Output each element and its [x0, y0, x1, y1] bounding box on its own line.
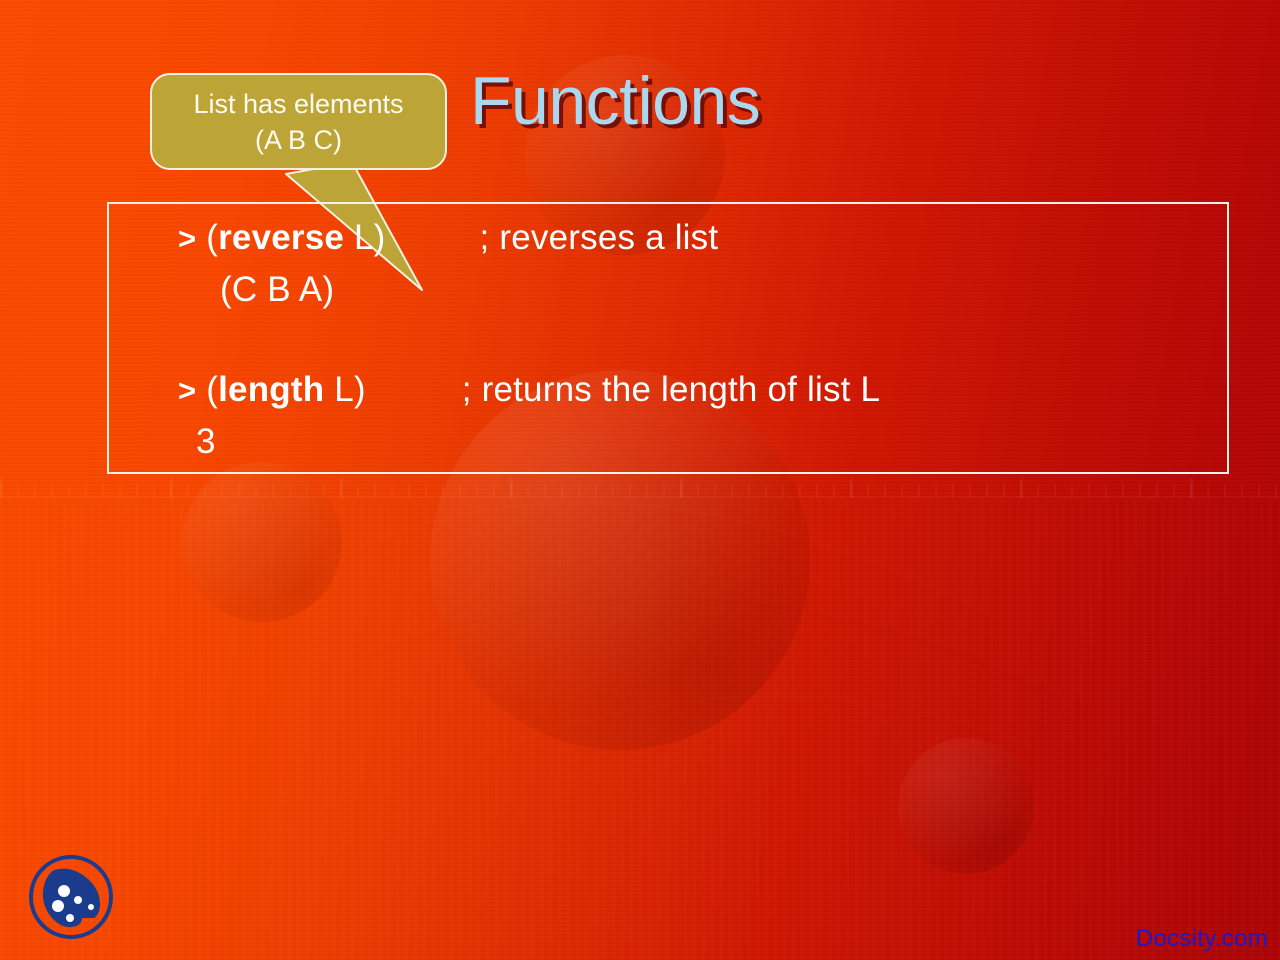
- page-title: Functions: [470, 62, 760, 140]
- background-streaks-texture: [0, 500, 1280, 960]
- footer-brand-label: Docsity.com: [1136, 924, 1268, 954]
- background-ruler-band: [0, 478, 1280, 508]
- slide-canvas: Functions List has elements (A B C) > (r…: [0, 0, 1280, 960]
- callout-line-2: (A B C): [255, 122, 342, 158]
- callout-bubble: List has elements (A B C): [150, 73, 447, 170]
- ruler-baseline: [0, 496, 1280, 498]
- callout-line-1: List has elements: [193, 86, 403, 122]
- docsity-logo-icon: [24, 850, 118, 944]
- code-example-box: [107, 202, 1229, 474]
- ruler-major-ticks: [0, 478, 1280, 498]
- background-sphere-right: [898, 738, 1034, 874]
